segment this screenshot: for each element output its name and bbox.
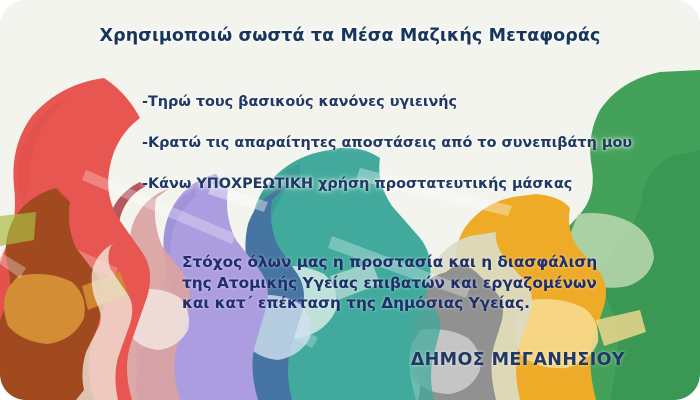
page-title: Χρησιμοποιώ σωστά τα Μέσα Μαζικής Μεταφο… xyxy=(0,26,700,46)
bullet-item-3: -Κάνω ΥΠΟΧΡΕΩΤΙΚΗ χρήση προστατευτικής μ… xyxy=(142,176,687,192)
paragraph-line-2: της Ατομικής Υγείας επιβατών και εργαζομ… xyxy=(182,273,682,294)
mission-paragraph: Στόχος όλων μας η προστασία και η διασφά… xyxy=(182,252,682,314)
paragraph-line-1: Στόχος όλων μας η προστασία και η διασφά… xyxy=(182,252,682,273)
text-layer: Χρησιμοποιώ σωστά τα Μέσα Μαζικής Μεταφο… xyxy=(0,0,700,400)
bullet-list: -Τηρώ τους βασικούς κανόνες υγιεινής -Κρ… xyxy=(142,94,687,217)
poster: Χρησιμοποιώ σωστά τα Μέσα Μαζικής Μεταφο… xyxy=(0,0,700,400)
bullet-item-1: -Τηρώ τους βασικούς κανόνες υγιεινής xyxy=(142,94,687,110)
issuing-authority: ΔΗΜΟΣ ΜΕΓΑΝΗΣΙΟΥ xyxy=(0,350,700,370)
bullet-item-2: -Κρατώ τις απαραίτητες αποστάσεις από το… xyxy=(142,135,687,151)
paragraph-line-3: και κατ΄ επέκταση της Δημόσιας Υγείας. xyxy=(182,293,682,314)
